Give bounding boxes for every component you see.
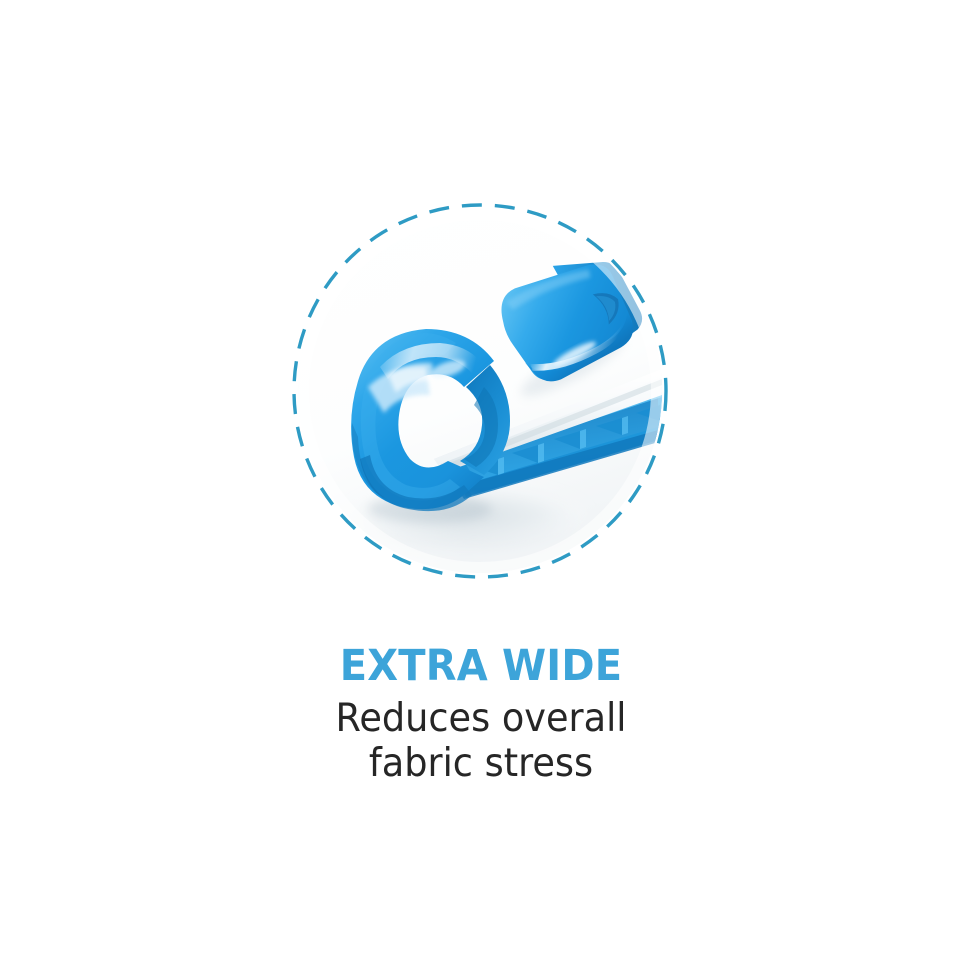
feature-description: Reduces overall fabric stress (29, 696, 933, 786)
caption-block: EXTRA WIDE Reduces overall fabric stress (0, 640, 962, 786)
feature-title: EXTRA WIDE (34, 640, 929, 692)
feature-description-line-1: Reduces overall (29, 696, 933, 741)
feature-description-line-2: fabric stress (29, 741, 933, 786)
dashed-ring-stroke (294, 205, 666, 577)
product-detail-circle (292, 203, 668, 579)
dashed-circle-border (292, 203, 668, 579)
feature-card: EXTRA WIDE Reduces overall fabric stress (0, 0, 962, 972)
